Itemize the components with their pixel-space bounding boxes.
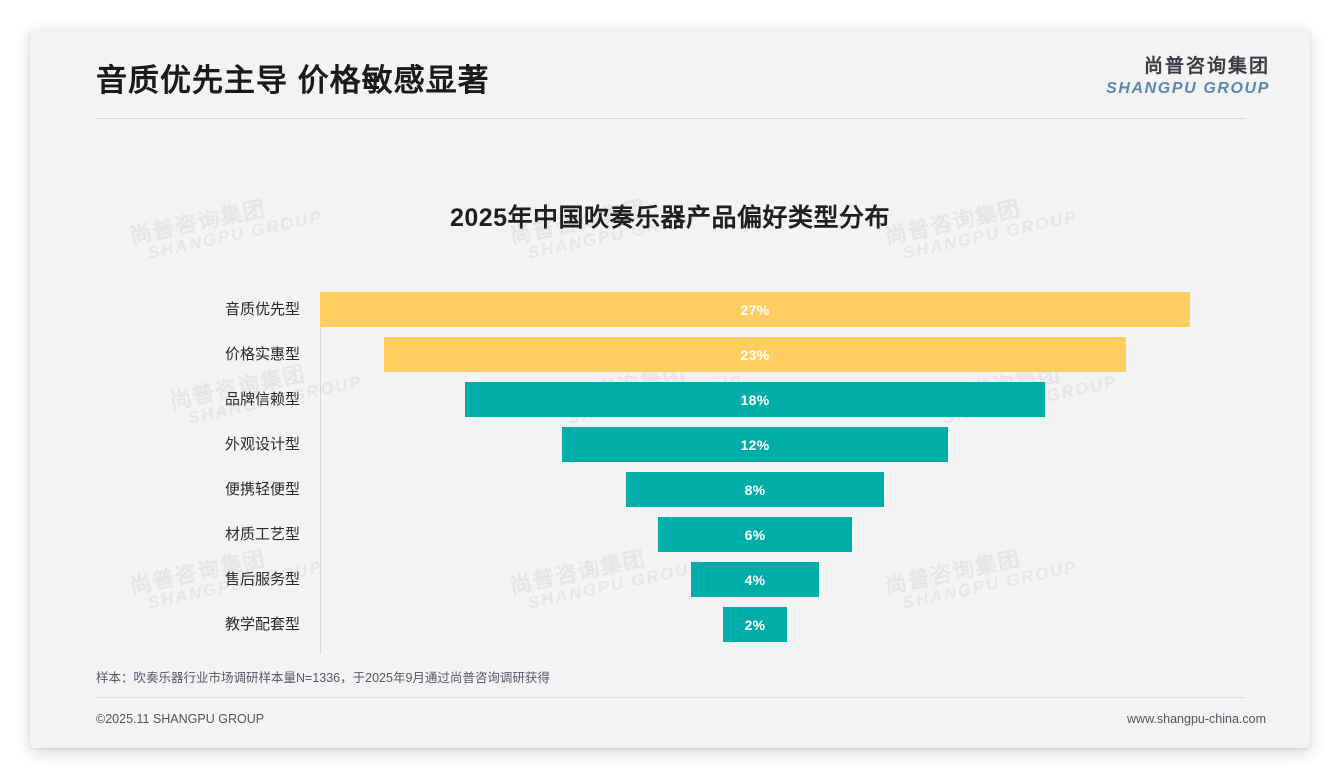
category-label: 便携轻便型	[90, 472, 308, 507]
bar-value-label: 4%	[745, 572, 766, 588]
header-divider	[96, 118, 1246, 119]
funnel-row: 外观设计型12%	[90, 427, 1250, 462]
bar-track: 2%	[320, 607, 1250, 642]
slide-footer: ©2025.11 SHANGPU GROUP www.shangpu-china…	[30, 702, 1310, 748]
chart-title: 2025年中国吹奏乐器产品偏好类型分布	[30, 198, 1310, 234]
bar-value-label: 18%	[741, 392, 770, 408]
brand-logo: 尚普咨询集团 SHANGPU GROUP	[1106, 56, 1270, 99]
page-title: 音质优先主导 价格敏感显著	[96, 55, 490, 100]
category-label: 音质优先型	[90, 292, 308, 327]
slide-card: 尚普咨询集团SHANGPU GROUP尚普咨询集团SHANGPU GROUP尚普…	[30, 30, 1310, 748]
funnel-bar[interactable]: 2%	[723, 607, 787, 642]
funnel-row: 价格实惠型23%	[90, 337, 1250, 372]
funnel-bar[interactable]: 18%	[465, 382, 1045, 417]
funnel-row: 材质工艺型6%	[90, 517, 1250, 552]
bar-value-label: 8%	[745, 482, 766, 498]
funnel-row: 音质优先型27%	[90, 292, 1250, 327]
bar-track: 4%	[320, 562, 1250, 597]
chart-rows: 音质优先型27%价格实惠型23%品牌信赖型18%外观设计型12%便携轻便型8%材…	[90, 292, 1250, 652]
bar-value-label: 23%	[741, 347, 770, 363]
funnel-row: 教学配套型2%	[90, 607, 1250, 642]
funnel-bar[interactable]: 12%	[562, 427, 949, 462]
funnel-bar[interactable]: 8%	[626, 472, 884, 507]
funnel-row: 品牌信赖型18%	[90, 382, 1250, 417]
bar-track: 8%	[320, 472, 1250, 507]
logo-chinese-text: 尚普咨询集团	[1106, 56, 1270, 79]
category-label: 材质工艺型	[90, 517, 308, 552]
category-label: 价格实惠型	[90, 337, 308, 372]
funnel-bar[interactable]: 6%	[658, 517, 851, 552]
category-label: 教学配套型	[90, 607, 308, 642]
bar-value-label: 12%	[741, 437, 770, 453]
funnel-chart: 音质优先型27%价格实惠型23%品牌信赖型18%外观设计型12%便携轻便型8%材…	[90, 262, 1250, 662]
bar-track: 18%	[320, 382, 1250, 417]
bar-track: 27%	[320, 292, 1250, 327]
footnote-divider	[96, 697, 1246, 698]
funnel-bar[interactable]: 23%	[384, 337, 1125, 372]
category-label: 品牌信赖型	[90, 382, 308, 417]
category-label: 售后服务型	[90, 562, 308, 597]
footer-website: www.shangpu-china.com	[1127, 712, 1266, 726]
funnel-row: 便携轻便型8%	[90, 472, 1250, 507]
funnel-row: 售后服务型4%	[90, 562, 1250, 597]
footer-copyright: ©2025.11 SHANGPU GROUP	[96, 712, 264, 726]
category-label: 外观设计型	[90, 427, 308, 462]
bar-value-label: 27%	[741, 302, 770, 318]
logo-english-text: SHANGPU GROUP	[1106, 79, 1270, 99]
bar-value-label: 6%	[745, 527, 766, 543]
funnel-bar[interactable]: 27%	[320, 292, 1190, 327]
bar-track: 12%	[320, 427, 1250, 462]
bar-value-label: 2%	[745, 617, 766, 633]
source-footnote: 样本：吹奏乐器行业市场调研样本量N=1336，于2025年9月通过尚普咨询调研获…	[96, 667, 550, 686]
bar-track: 23%	[320, 337, 1250, 372]
bar-track: 6%	[320, 517, 1250, 552]
funnel-bar[interactable]: 4%	[691, 562, 820, 597]
slide-header: 音质优先主导 价格敏感显著 尚普咨询集团 SHANGPU GROUP	[30, 30, 1310, 126]
